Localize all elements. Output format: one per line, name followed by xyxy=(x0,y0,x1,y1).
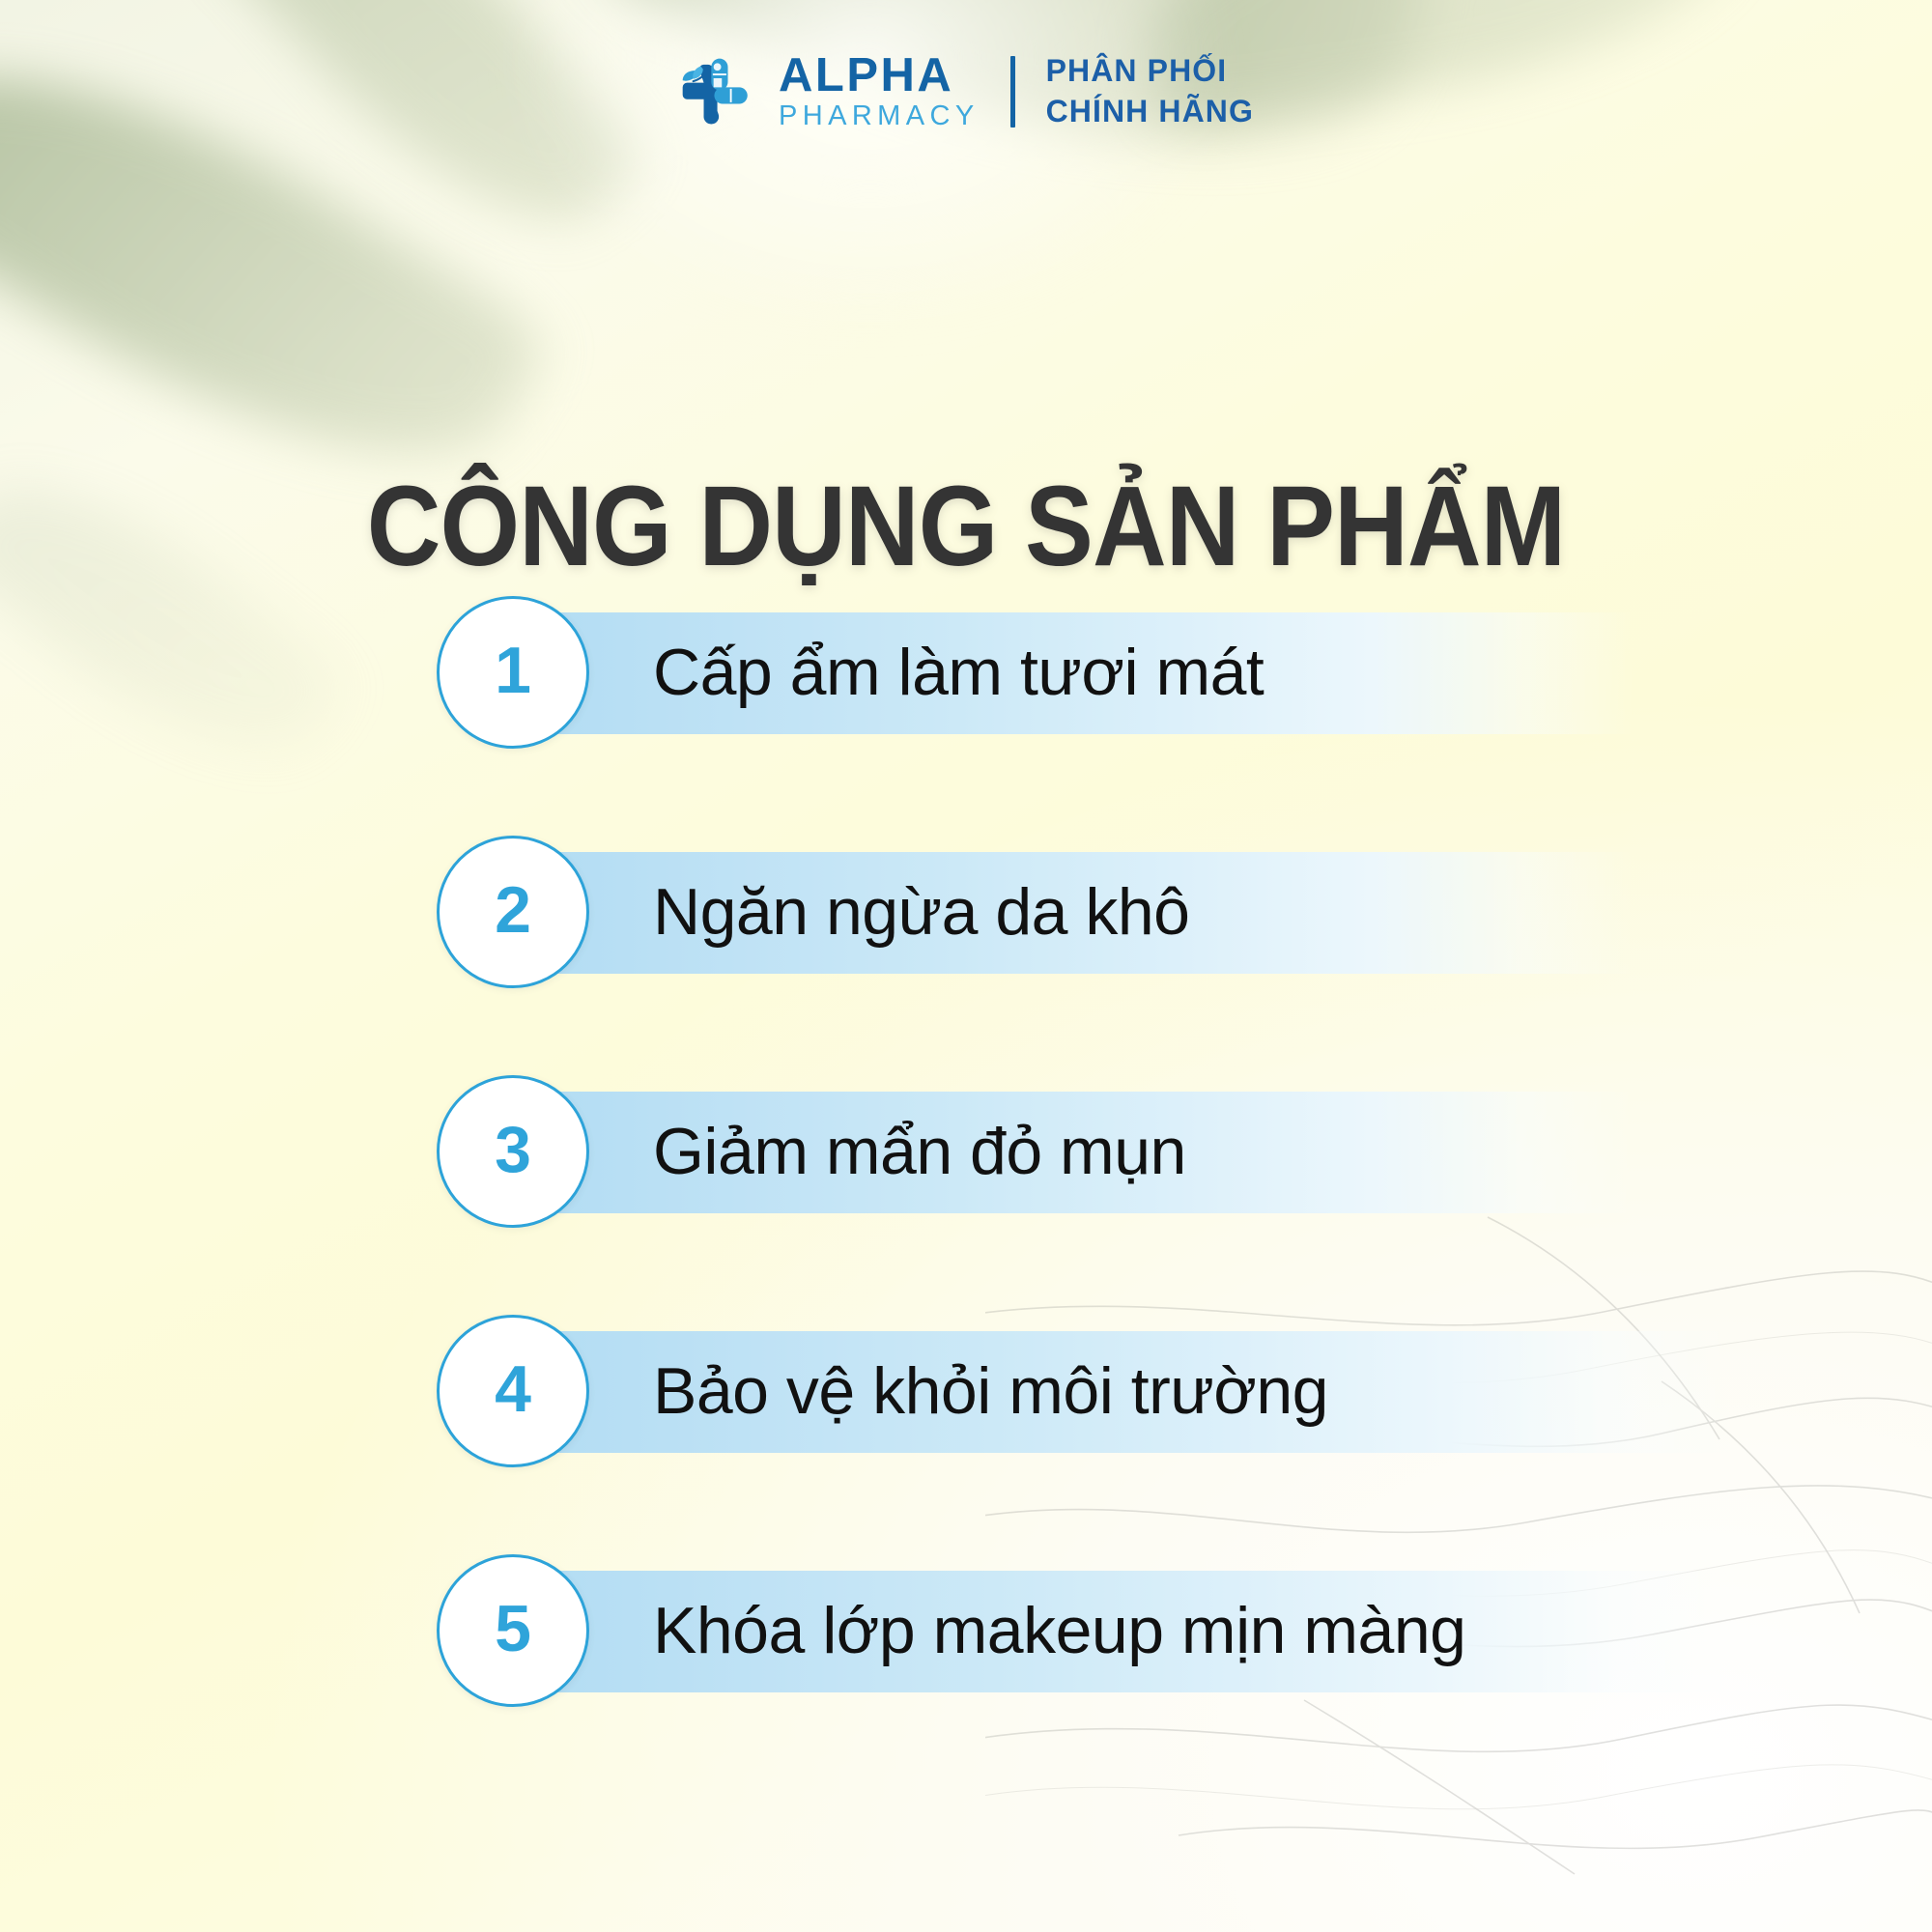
benefit-label: Khóa lớp makeup mịn màng xyxy=(653,1593,1466,1668)
product-benefits-poster: ALPHA PHARMACY PHÂN PHỐI CHÍNH HÃNG CÔNG… xyxy=(0,0,1932,1932)
benefit-label: Ngăn ngừa da khô xyxy=(653,874,1190,950)
benefit-number-badge: 1 xyxy=(437,596,589,749)
pharmacy-cross-pill-leaf-icon xyxy=(678,54,753,129)
page-title: CÔNG DỤNG SẢN PHẨM xyxy=(97,461,1835,592)
benefit-label: Cấp ẩm làm tươi mát xyxy=(653,635,1264,710)
benefit-number: 1 xyxy=(495,638,531,703)
benefit-number: 4 xyxy=(495,1356,531,1422)
benefit-number: 5 xyxy=(495,1596,531,1662)
brand-tagline: PHÂN PHỐI CHÍNH HÃNG xyxy=(1046,54,1254,128)
blurred-leaf-decoration xyxy=(179,0,651,282)
tagline-line-2: CHÍNH HÃNG xyxy=(1046,95,1254,128)
benefit-number-badge: 2 xyxy=(437,836,589,988)
benefit-label: Giảm mẩn đỏ mụn xyxy=(653,1114,1186,1189)
benefit-number-badge: 4 xyxy=(437,1315,589,1467)
list-item: 4 Bảo vệ khỏi môi trường xyxy=(437,1318,1789,1464)
tagline-line-1: PHÂN PHỐI xyxy=(1046,54,1254,88)
benefit-number: 2 xyxy=(495,877,531,943)
list-item: 1 Cấp ẩm làm tươi mát xyxy=(437,599,1789,746)
list-item: 3 Giảm mẩn đỏ mụn xyxy=(437,1078,1789,1225)
brand-name-secondary: PHARMACY xyxy=(779,102,980,130)
list-item: 5 Khóa lớp makeup mịn màng xyxy=(437,1557,1789,1704)
benefit-number: 3 xyxy=(495,1117,531,1182)
benefit-number-badge: 5 xyxy=(437,1554,589,1707)
brand-wordmark: ALPHA PHARMACY xyxy=(779,52,980,130)
benefits-list: 1 Cấp ẩm làm tươi mát 2 Ngăn ngừa da khô… xyxy=(437,599,1789,1704)
list-item: 2 Ngăn ngừa da khô xyxy=(437,838,1789,985)
header-divider xyxy=(1010,56,1015,128)
benefit-number-badge: 3 xyxy=(437,1075,589,1228)
brand-name-primary: ALPHA xyxy=(779,52,980,99)
benefit-label: Bảo vệ khỏi môi trường xyxy=(653,1353,1328,1429)
brand-header: ALPHA PHARMACY PHÂN PHỐI CHÍNH HÃNG xyxy=(0,52,1932,130)
